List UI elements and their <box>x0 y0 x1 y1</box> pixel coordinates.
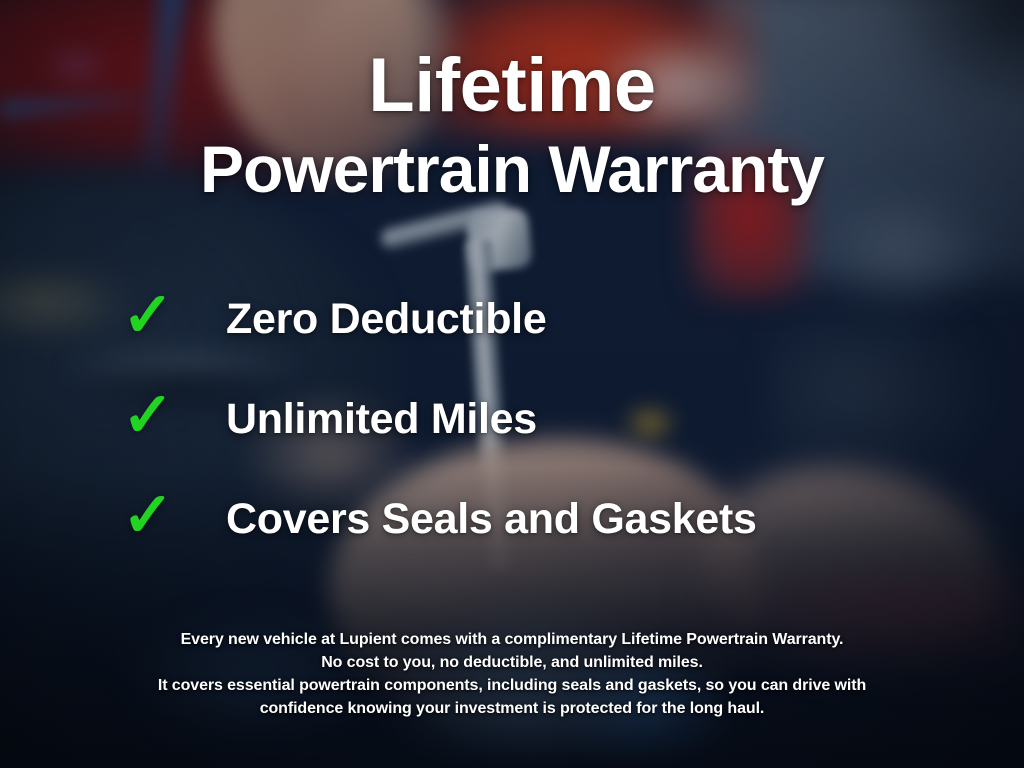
footnote-line-3: It covers essential powertrain component… <box>0 674 1024 697</box>
check-mark-icon: ✓ <box>122 385 226 447</box>
footnote-line-2: No cost to you, no deductible, and unlim… <box>0 651 1024 674</box>
benefit-label-unlimited-miles: Unlimited Miles <box>226 397 537 442</box>
headline-line-2: Powertrain Warranty <box>0 136 1024 202</box>
headline: Lifetime Powertrain Warranty <box>0 48 1024 202</box>
benefits-list: ✓ Zero Deductible ✓ Unlimited Miles ✓ Co… <box>122 286 942 586</box>
headline-line-1: Lifetime <box>0 48 1024 124</box>
benefit-label-zero-deductible: Zero Deductible <box>226 297 546 342</box>
footnote-line-1: Every new vehicle at Lupient comes with … <box>0 628 1024 651</box>
banner-content: Lifetime Powertrain Warranty ✓ Zero Dedu… <box>0 0 1024 768</box>
footnote-line-4: confidence knowing your investment is pr… <box>0 697 1024 720</box>
footnote-paragraph: Every new vehicle at Lupient comes with … <box>0 628 1024 720</box>
benefit-item-zero-deductible: ✓ Zero Deductible <box>122 286 942 354</box>
benefit-item-unlimited-miles: ✓ Unlimited Miles <box>122 386 942 454</box>
benefit-item-covers-seals-and-gaskets: ✓ Covers Seals and Gaskets <box>122 486 942 554</box>
check-mark-icon: ✓ <box>122 285 226 347</box>
check-mark-icon: ✓ <box>122 485 226 547</box>
promo-banner: Lifetime Powertrain Warranty ✓ Zero Dedu… <box>0 0 1024 768</box>
benefit-label-covers-seals-and-gaskets: Covers Seals and Gaskets <box>226 497 757 542</box>
